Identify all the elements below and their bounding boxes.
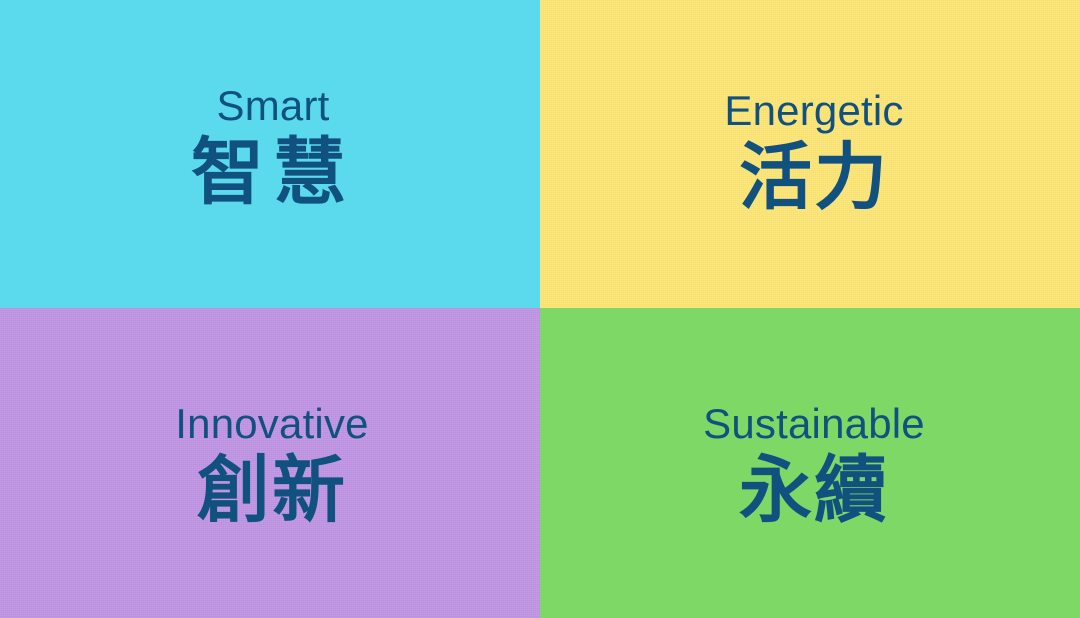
sustainable-text-block: Sustainable 永續 — [703, 403, 925, 527]
smart-label-en: Smart — [216, 85, 329, 127]
quadrant-innovative: Innovative 創新 — [0, 308, 540, 618]
brand-values-grid: Smart 智慧 Energetic 活力 Innovative 創新 Sust… — [0, 0, 1080, 618]
sustainable-label-zh: 永續 — [739, 454, 889, 527]
innovative-text-block: Innovative 創新 — [175, 403, 368, 527]
energetic-label-en: Energetic — [724, 90, 903, 132]
innovative-label-en: Innovative — [175, 403, 368, 445]
quadrant-smart: Smart 智慧 — [0, 0, 540, 308]
energetic-text-block: Energetic 活力 — [724, 90, 903, 214]
innovative-label-zh: 創新 — [197, 454, 347, 527]
smart-label-zh: 智慧 — [191, 136, 355, 209]
energetic-label-zh: 活力 — [739, 141, 889, 214]
sustainable-label-en: Sustainable — [703, 403, 925, 445]
smart-text-block: Smart 智慧 — [191, 85, 355, 209]
quadrant-energetic: Energetic 活力 — [540, 0, 1080, 308]
quadrant-sustainable: Sustainable 永續 — [540, 308, 1080, 618]
